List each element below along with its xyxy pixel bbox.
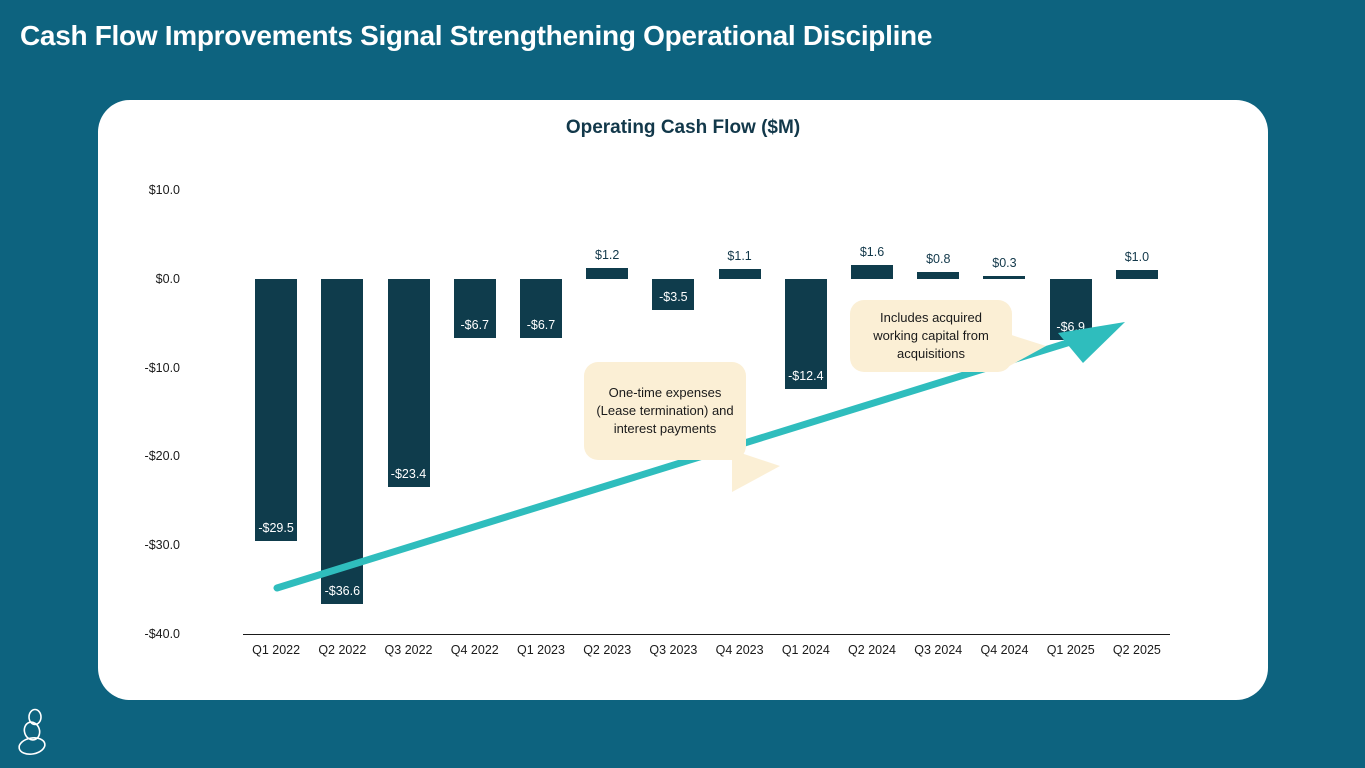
page-title: Cash Flow Improvements Signal Strengthen… (20, 20, 932, 52)
brand-logo (12, 708, 56, 756)
callout-one-time-expenses: One-time expenses (Lease termination) an… (584, 362, 746, 460)
callout-one-time-expenses-tail (732, 450, 792, 510)
stacked-stones-logo-icon (12, 708, 56, 756)
callout-acquired-working-capital: Includes acquired working capital from a… (850, 300, 1012, 372)
chart-card: Operating Cash Flow ($M) $10.0$0.0-$10.0… (98, 100, 1268, 700)
callout-acquired-working-capital-text: Includes acquired working capital from a… (860, 309, 1002, 362)
callout-one-time-expenses-text: One-time expenses (Lease termination) an… (594, 384, 736, 437)
